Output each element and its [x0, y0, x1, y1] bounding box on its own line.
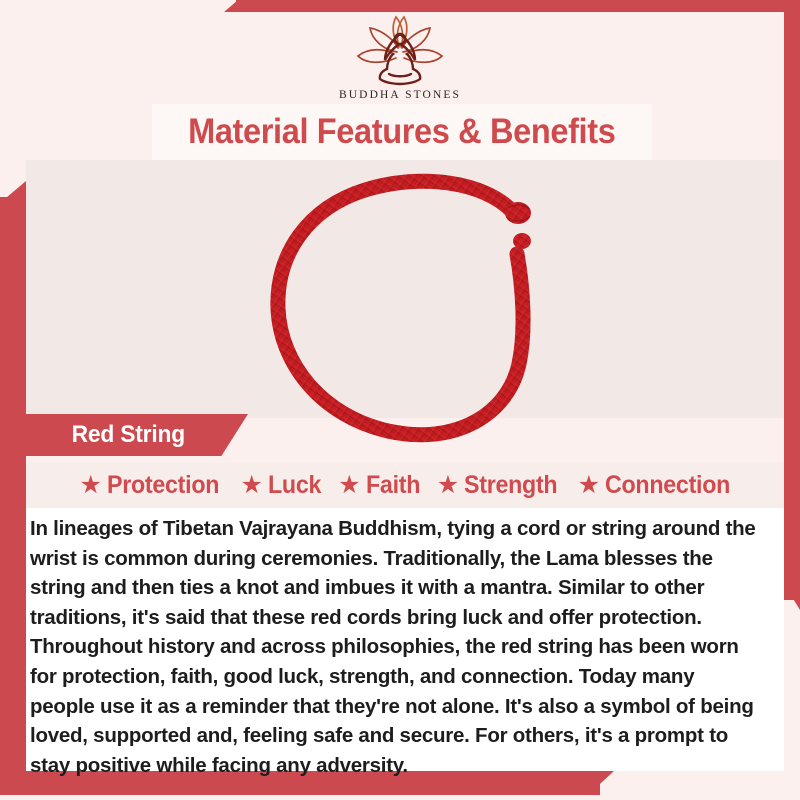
title-banner: Material Features & Benefits: [152, 104, 652, 160]
benefit-item-connection: ★ Connection: [569, 471, 740, 500]
material-ribbon: Red String: [26, 414, 248, 456]
description-panel: In lineages of Tibetan Vajrayana Buddhis…: [26, 508, 784, 771]
star-icon: ★: [437, 473, 459, 498]
star-icon: ★: [241, 473, 263, 498]
benefit-item-protection: ★ Protection: [71, 471, 228, 500]
benefit-label: Protection: [107, 471, 219, 500]
infographic-poster: BUDDHA STONES Material Features & Benefi…: [0, 0, 800, 800]
star-icon: ★: [338, 473, 360, 498]
benefit-item-faith: ★ Faith: [329, 471, 424, 500]
frame-bar-top: [236, 0, 800, 12]
benefit-label: Luck: [268, 471, 321, 500]
benefit-label: Connection: [605, 471, 730, 500]
benefits-row: ★ Protection ★ Luck ★ Faith ★ Strength ★…: [26, 462, 784, 508]
star-icon: ★: [578, 473, 600, 498]
star-icon: ★: [80, 473, 102, 498]
page-title: Material Features & Benefits: [188, 112, 615, 152]
description-text: In lineages of Tibetan Vajrayana Buddhis…: [26, 508, 784, 780]
benefit-label: Faith: [366, 471, 420, 500]
benefit-label: Strength: [464, 471, 557, 500]
brand-logo: BUDDHA STONES: [0, 14, 800, 101]
brand-name: BUDDHA STONES: [0, 89, 800, 101]
material-label: Red String: [26, 421, 185, 449]
benefit-item-strength: ★ Strength: [428, 471, 565, 500]
red-string-bracelet-image: [270, 168, 570, 450]
frame-bar-left: [0, 197, 26, 783]
lotus-meditation-icon: [352, 14, 448, 86]
benefit-item-luck: ★ Luck: [232, 471, 326, 500]
